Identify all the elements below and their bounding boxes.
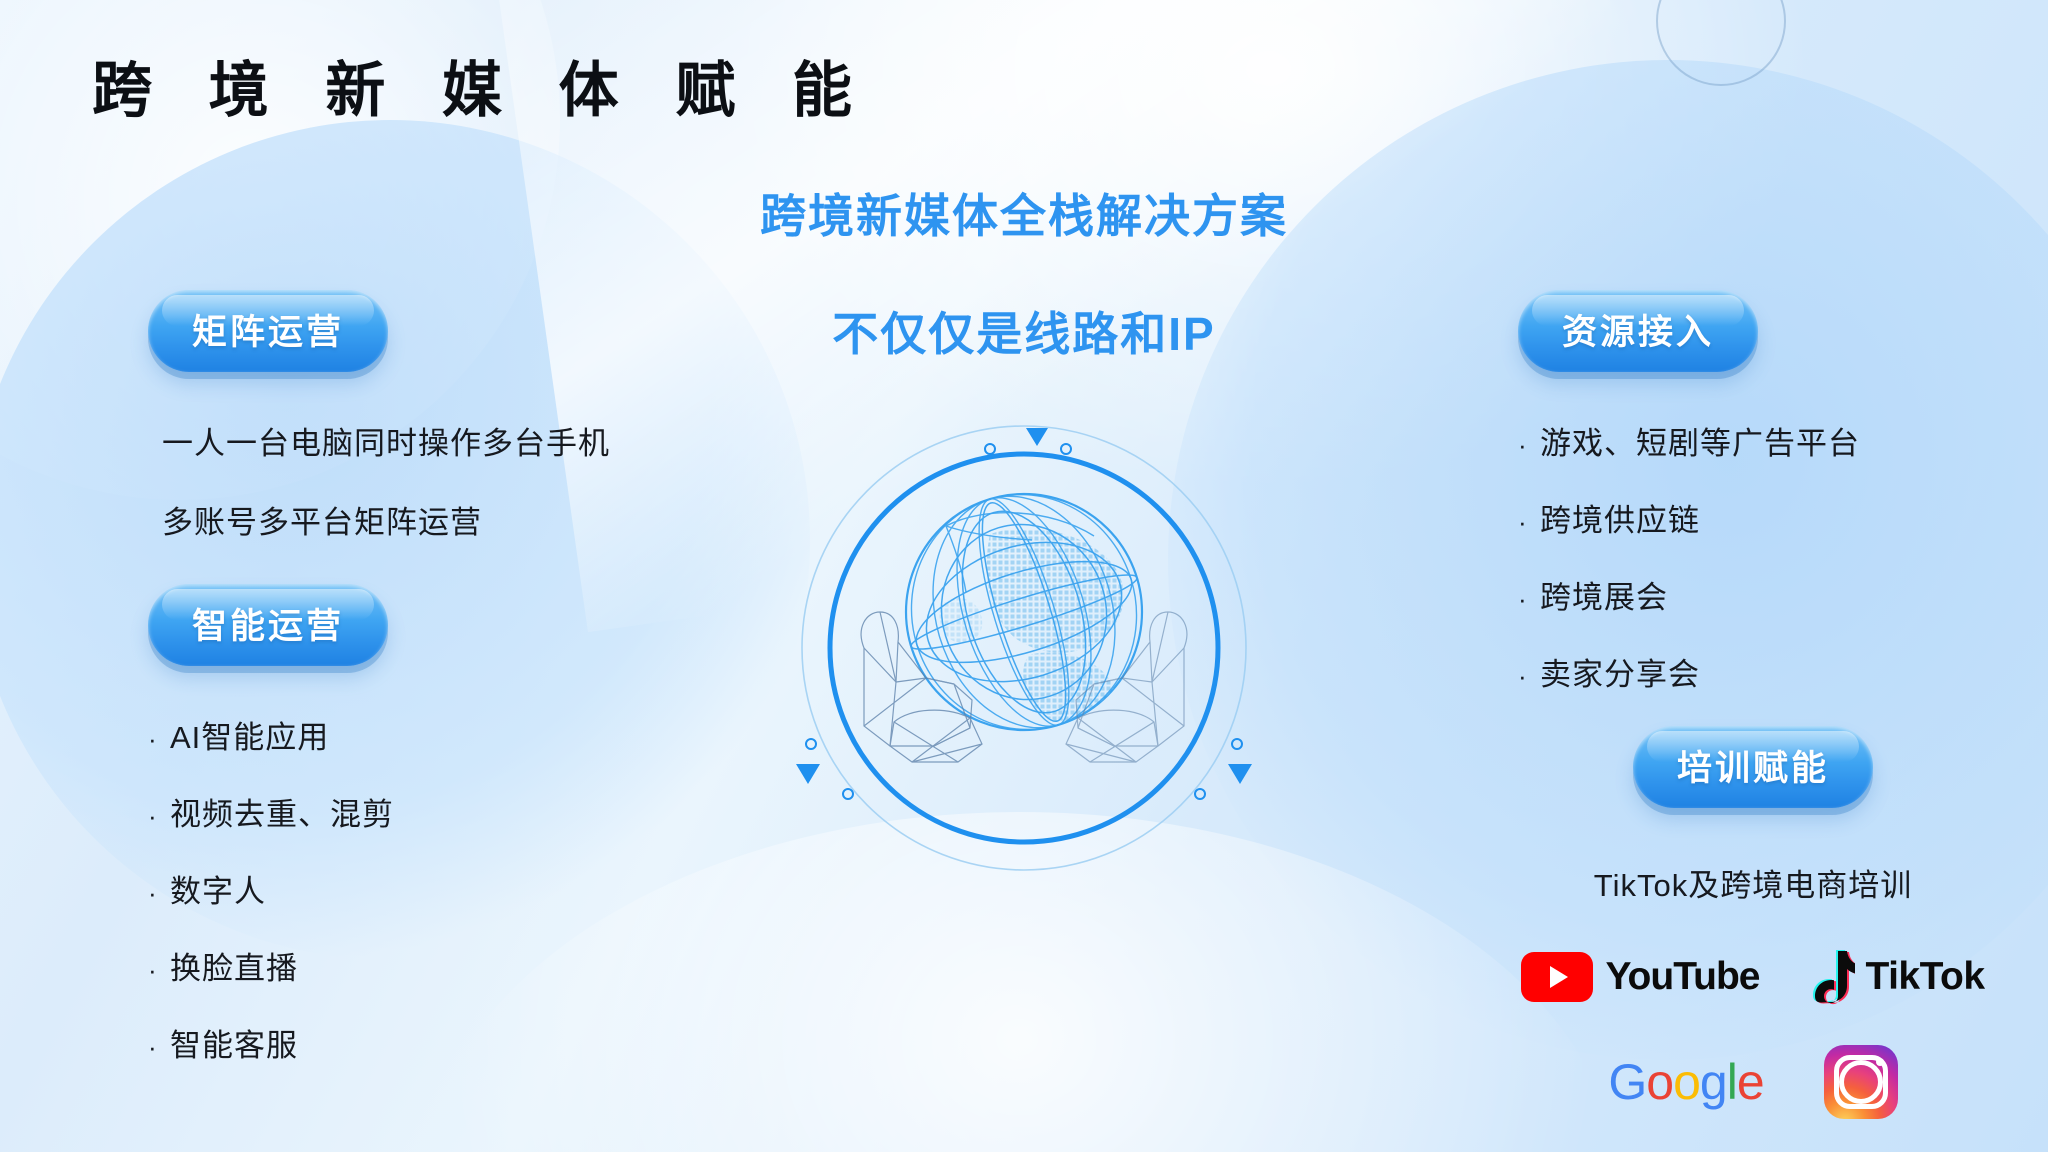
matrix-operations-line-1: 一人一台电脑同时操作多台手机	[162, 418, 708, 463]
youtube-logo-label: YouTube	[1605, 955, 1759, 999]
list-item-label: 跨境供应链	[1540, 495, 1700, 540]
list-item-label: 智能客服	[170, 1020, 298, 1065]
section-spacer	[148, 542, 708, 584]
bullet-dot-icon: ·	[148, 803, 170, 829]
bullet-dot-icon: ·	[148, 726, 170, 752]
pill-resource-access[interactable]: 资源接入	[1518, 290, 1758, 372]
page-title: 跨 境 新 媒 体 赋 能	[92, 42, 872, 129]
google-letter-o2: o	[1673, 1054, 1700, 1110]
section-smart-operations: 智能运营 · AI智能应用 · 视频去重、混剪 · 数字人 · 换脸直播	[148, 584, 708, 1065]
pill-matrix-operations[interactable]: 矩阵运营	[148, 290, 388, 372]
tiktok-logo-label: TikTok	[1865, 955, 1984, 999]
google-letter-g2: g	[1700, 1054, 1727, 1110]
google-letter-g1: G	[1608, 1054, 1646, 1110]
logo-row-1: YouTube TikTok	[1518, 949, 1988, 1005]
youtube-logo[interactable]: YouTube	[1521, 952, 1759, 1002]
youtube-play-icon	[1521, 952, 1593, 1002]
tiktok-logo[interactable]: TikTok	[1807, 949, 1984, 1005]
section-training-empowerment: 培训赋能 TikTok及跨境电商培训 YouTube TikTok	[1518, 726, 1988, 1119]
list-item: · 换脸直播	[148, 943, 708, 988]
list-item: · 游戏、短剧等广告平台	[1518, 418, 1988, 463]
list-item-label: 跨境展会	[1540, 572, 1668, 617]
tiktok-note-icon	[1807, 949, 1855, 1005]
list-item: · 智能客服	[148, 1020, 708, 1065]
section-matrix-operations: 矩阵运营 一人一台电脑同时操作多台手机 多账号多平台矩阵运营	[148, 290, 708, 542]
globe-in-hands-illustration	[794, 416, 1254, 876]
list-item: · 卖家分享会	[1518, 649, 1988, 694]
bullet-dot-icon: ·	[1518, 663, 1540, 689]
google-letter-e: e	[1737, 1054, 1764, 1110]
list-item-label: 视频去重、混剪	[170, 789, 394, 834]
smart-operations-list: · AI智能应用 · 视频去重、混剪 · 数字人 · 换脸直播 · 智能客服	[148, 712, 708, 1065]
left-column: 矩阵运营 一人一台电脑同时操作多台手机 多账号多平台矩阵运营 智能运营 · AI…	[148, 290, 708, 1097]
bullet-dot-icon: ·	[148, 957, 170, 983]
list-item-label: 数字人	[170, 866, 266, 911]
google-letter-o1: o	[1646, 1054, 1673, 1110]
list-item-label: 卖家分享会	[1540, 649, 1700, 694]
list-item-label: 换脸直播	[170, 943, 298, 988]
matrix-operations-line-2: 多账号多平台矩阵运营	[162, 497, 708, 542]
google-letter-l: l	[1727, 1054, 1737, 1110]
section-resource-access: 资源接入 · 游戏、短剧等广告平台 · 跨境供应链 · 跨境展会 · 卖家分享会	[1518, 290, 1988, 694]
pill-training-empowerment[interactable]: 培训赋能	[1633, 726, 1873, 808]
decorative-circle-outline-icon	[1656, 0, 1786, 86]
training-caption: TikTok及跨境电商培训	[1518, 860, 1988, 905]
bullet-dot-icon: ·	[148, 880, 170, 906]
instagram-frame-icon	[1834, 1055, 1888, 1109]
list-item: · 视频去重、混剪	[148, 789, 708, 834]
list-item-label: 游戏、短剧等广告平台	[1540, 418, 1860, 463]
bullet-dot-icon: ·	[1518, 586, 1540, 612]
right-column: 资源接入 · 游戏、短剧等广告平台 · 跨境供应链 · 跨境展会 · 卖家分享会	[1518, 290, 1988, 1119]
list-item: · 跨境展会	[1518, 572, 1988, 617]
bullet-dot-icon: ·	[1518, 432, 1540, 458]
list-item: · AI智能应用	[148, 712, 708, 757]
google-logo[interactable]: Google	[1608, 1053, 1763, 1111]
resource-access-list: · 游戏、短剧等广告平台 · 跨境供应链 · 跨境展会 · 卖家分享会	[1518, 418, 1988, 694]
list-item: · 跨境供应链	[1518, 495, 1988, 540]
instagram-logo[interactable]	[1824, 1045, 1898, 1119]
bullet-dot-icon: ·	[148, 1034, 170, 1060]
list-item-label: AI智能应用	[170, 712, 329, 757]
bullet-dot-icon: ·	[1518, 509, 1540, 535]
slide-canvas: 跨 境 新 媒 体 赋 能 跨境新媒体全栈解决方案 不仅仅是线路和IP	[0, 0, 2048, 1152]
center-heading-primary: 跨境新媒体全栈解决方案	[0, 180, 2048, 246]
pill-smart-operations[interactable]: 智能运营	[148, 584, 388, 666]
list-item: · 数字人	[148, 866, 708, 911]
logo-row-2: Google	[1518, 1045, 1988, 1119]
